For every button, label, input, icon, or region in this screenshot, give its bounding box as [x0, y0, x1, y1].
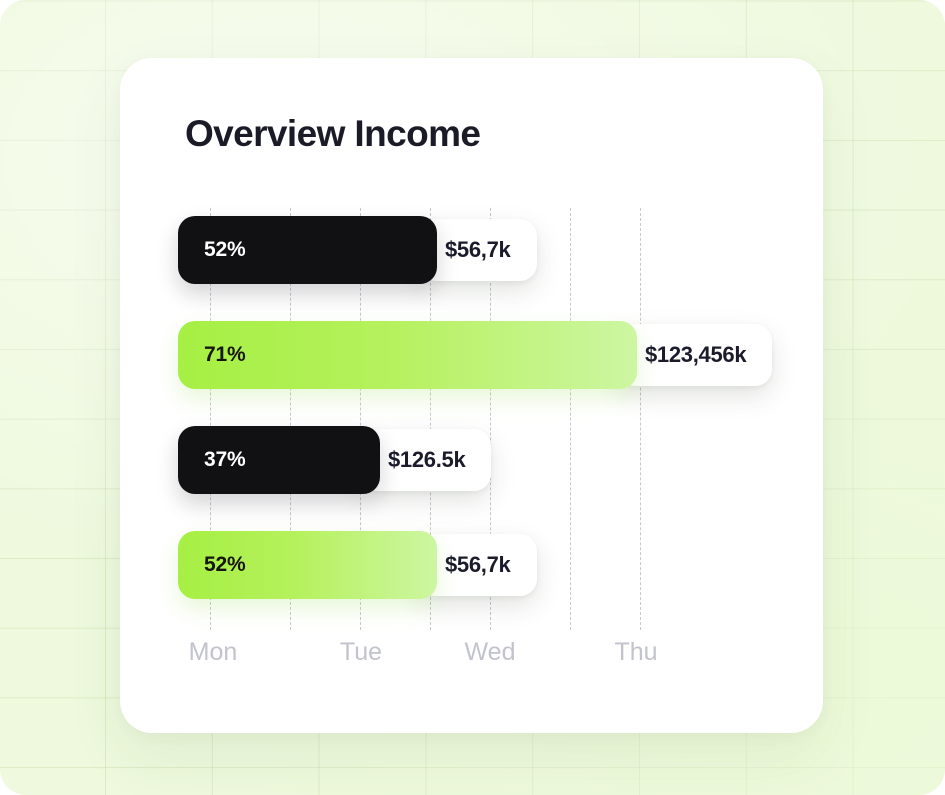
bar-segment[interactable]: 37%: [178, 426, 380, 494]
x-axis-label-thu: Thu: [614, 638, 657, 667]
bar-segment[interactable]: 52%: [178, 531, 437, 599]
bar-value-chip: $126.5k: [362, 429, 491, 491]
bar-percent-label: 52%: [178, 553, 245, 577]
chart-plot-area: 52% $56,7k 71% $123,456k 37% $126.5k: [120, 208, 823, 678]
bar-value-chip: $123,456k: [619, 324, 772, 386]
bar-segment[interactable]: 52%: [178, 216, 437, 284]
page-title: Overview Income: [185, 113, 480, 155]
bar-row[interactable]: 37% $126.5k: [178, 426, 491, 494]
bar-percent-label: 37%: [178, 448, 245, 472]
overview-income-card: Overview Income 52% $56,7k 71%: [120, 58, 823, 733]
app-canvas: Overview Income 52% $56,7k 71%: [0, 0, 945, 795]
x-axis-label-mon: Mon: [189, 638, 238, 667]
bar-row[interactable]: 52% $56,7k: [178, 531, 537, 599]
bars-layer: 52% $56,7k 71% $123,456k 37% $126.5k: [120, 208, 823, 630]
x-axis-label-wed: Wed: [465, 638, 516, 667]
x-axis: Mon Tue Wed Thu: [120, 638, 823, 678]
x-axis-label-tue: Tue: [340, 638, 382, 667]
bar-row[interactable]: 71% $123,456k: [178, 321, 772, 389]
bar-percent-label: 71%: [178, 343, 245, 367]
bar-segment[interactable]: 71%: [178, 321, 637, 389]
bar-percent-label: 52%: [178, 238, 245, 262]
bar-row[interactable]: 52% $56,7k: [178, 216, 537, 284]
